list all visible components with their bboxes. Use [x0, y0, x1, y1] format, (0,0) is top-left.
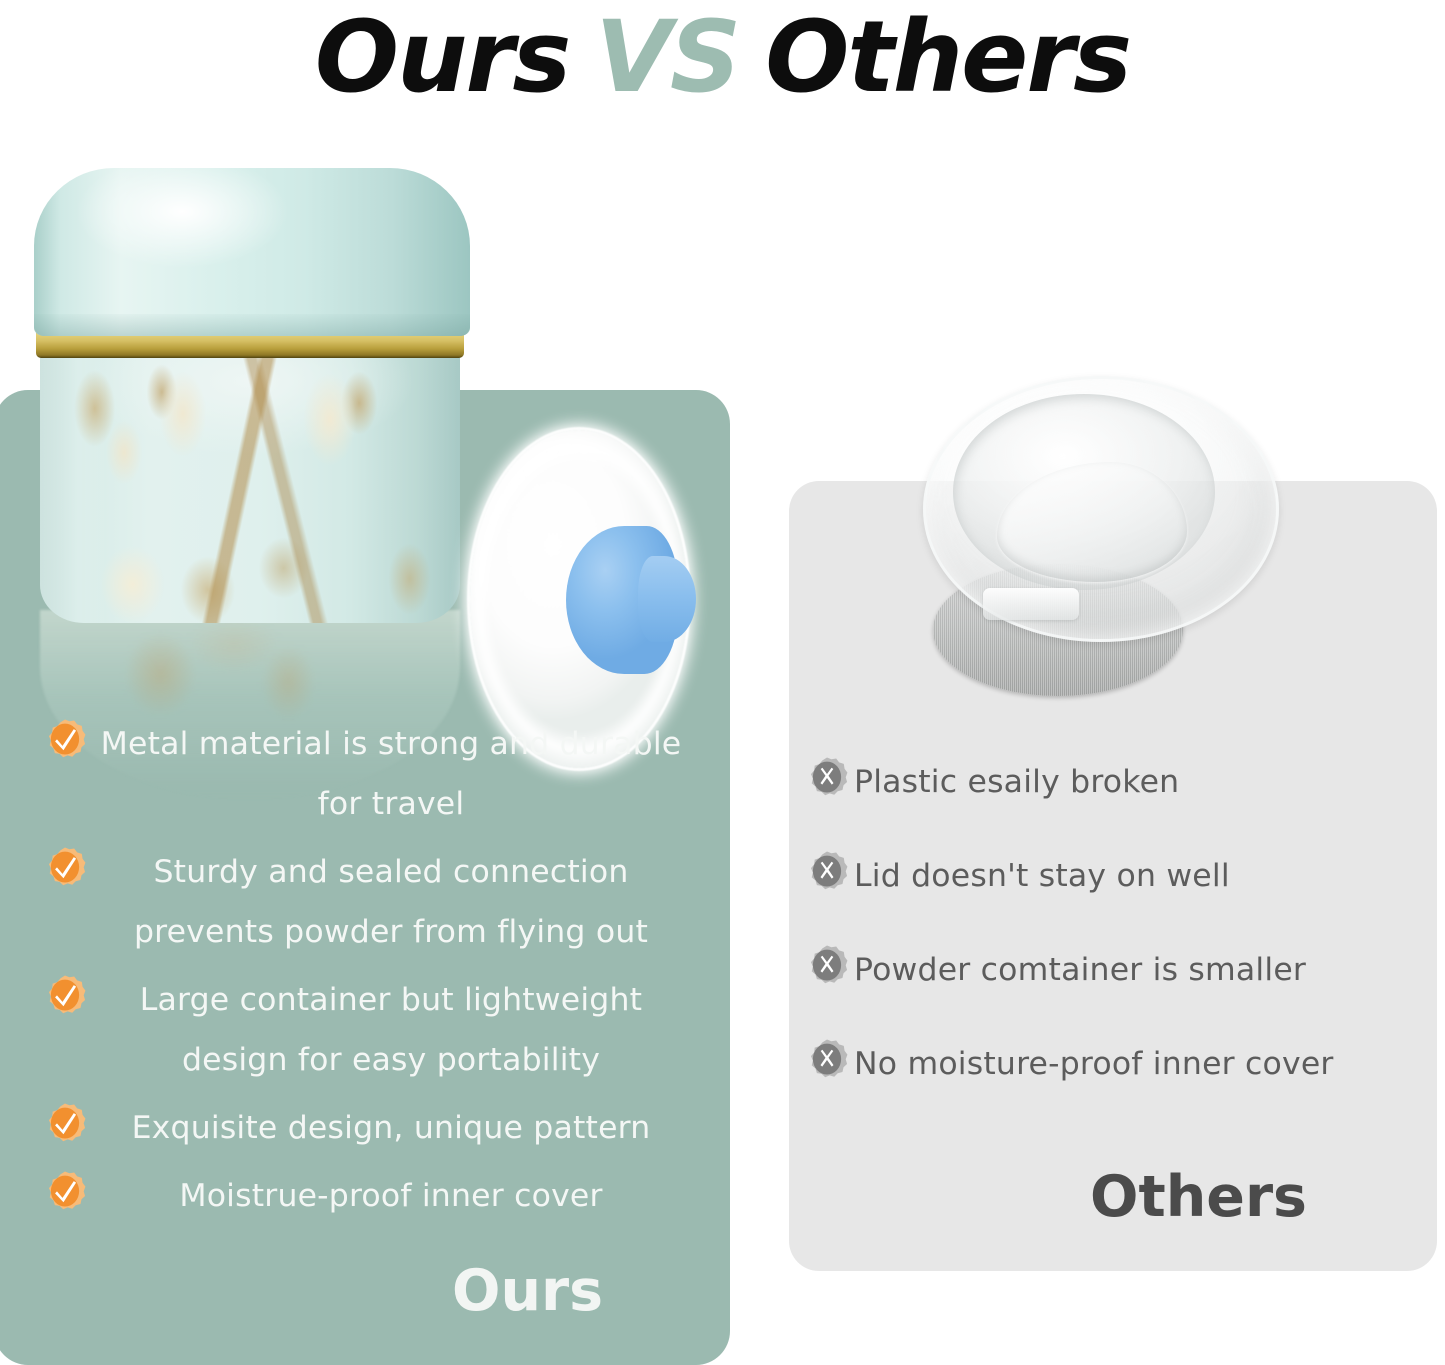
list-item: No moisture-proof inner cover — [806, 1034, 1426, 1094]
list-item-label: Metal material is strong and durable for… — [92, 714, 690, 834]
list-item-label: Sturdy and sealed connection prevents po… — [92, 842, 690, 962]
cross-badge-icon — [806, 850, 848, 894]
list-item-label: Plastic esaily broken — [854, 752, 1179, 812]
cross-badge-icon — [806, 1038, 848, 1082]
list-item-label: Lid doesn't stay on well — [854, 846, 1230, 906]
others-feature-list: Plastic esaily broken Lid doesn't stay o… — [806, 752, 1426, 1128]
others-product-image — [905, 366, 1295, 716]
ours-feature-list: Metal material is strong and durable for… — [44, 714, 694, 1234]
cross-badge-icon — [806, 944, 848, 988]
list-item-label: Large container but lightweight design f… — [92, 970, 690, 1090]
check-badge-icon — [44, 1170, 86, 1214]
list-item: Metal material is strong and durable for… — [44, 714, 694, 834]
ours-brand-label: Ours — [452, 1258, 603, 1324]
list-item: Large container but lightweight design f… — [44, 970, 694, 1090]
title-others: Others — [765, 0, 1130, 115]
check-badge-icon — [44, 846, 86, 890]
list-item-label: No moisture-proof inner cover — [854, 1034, 1334, 1094]
list-item: Powder comtainer is smaller — [806, 940, 1426, 1000]
tin-highlight — [40, 348, 107, 623]
page-title: OursVSOthers — [0, 2, 1445, 117]
check-badge-icon — [44, 1102, 86, 1146]
check-badge-icon — [44, 974, 86, 1018]
cross-badge-icon — [806, 756, 848, 800]
list-item: Moistrue-proof inner cover — [44, 1166, 694, 1226]
others-brand-label: Others — [1090, 1164, 1307, 1230]
list-item-label: Powder comtainer is smaller — [854, 940, 1306, 1000]
ours-product-image — [18, 158, 718, 718]
list-item: Exquisite design, unique pattern — [44, 1098, 694, 1158]
list-item: Plastic esaily broken — [806, 752, 1426, 812]
check-badge-icon — [44, 718, 86, 762]
tin-lid — [34, 168, 470, 336]
list-item: Sturdy and sealed connection prevents po… — [44, 842, 694, 962]
plastic-case-tab — [983, 588, 1079, 620]
tin-body — [40, 348, 460, 623]
title-vs: VS — [595, 0, 739, 115]
list-item: Lid doesn't stay on well — [806, 846, 1426, 906]
title-ours: Ours — [315, 0, 569, 115]
list-item-label: Exquisite design, unique pattern — [92, 1098, 690, 1158]
list-item-label: Moistrue-proof inner cover — [92, 1166, 690, 1226]
